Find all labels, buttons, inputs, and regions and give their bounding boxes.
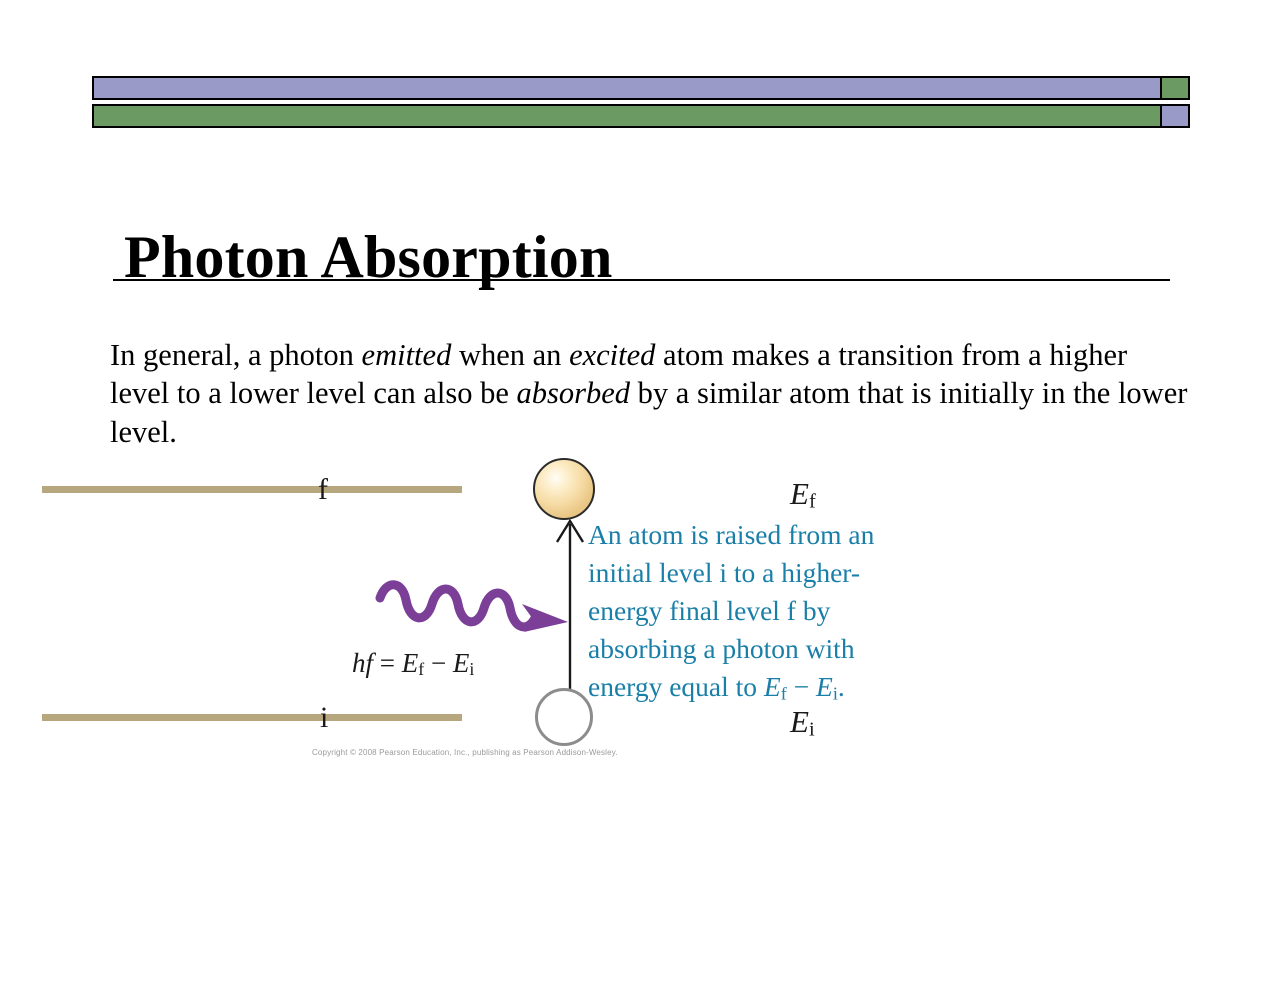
- header-bar-top: [92, 76, 1190, 100]
- atom-ground-state: [535, 688, 593, 746]
- body-text-seg-2: when an: [451, 338, 569, 372]
- body-text-seg-5: absorbed: [517, 376, 631, 410]
- formula-minus: −: [431, 648, 446, 678]
- annotation-ef: E: [764, 671, 781, 702]
- formula-ei: E: [453, 648, 470, 678]
- annotation-line-5-prefix: energy equal to: [588, 671, 764, 702]
- annotation-line-5: energy equal to Ef − Ei.: [588, 668, 938, 712]
- energy-level-line-initial: [42, 714, 462, 721]
- annotation-period: .: [838, 671, 845, 702]
- energy-symbol-final: E: [790, 476, 809, 511]
- annotation-minus: −: [787, 671, 816, 702]
- energy-level-line-final: [42, 486, 462, 493]
- formula-hf: hf: [352, 648, 373, 678]
- header-bar-top-short: [1160, 76, 1190, 100]
- figure-annotation: An atom is raised from an initial level …: [588, 516, 938, 712]
- annotation-line-4: absorbing a photon with: [588, 630, 938, 668]
- header-bar-top-long: [92, 76, 1162, 100]
- body-text-seg-3: excited: [569, 338, 655, 372]
- header-decoration: [92, 76, 1190, 128]
- body-text-seg-0: In general, a photon: [110, 338, 362, 372]
- annotation-line-3: energy final level f by: [588, 592, 938, 630]
- photon-energy-formula: hf = Ef − Ei: [352, 650, 474, 679]
- figure-copyright: Copyright © 2008 Pearson Education, Inc.…: [312, 748, 618, 757]
- formula-ef-sub: f: [418, 659, 424, 679]
- annotation-ei: E: [816, 671, 833, 702]
- header-bar-bottom-short: [1160, 104, 1190, 128]
- energy-level-letter-final: f: [318, 475, 328, 505]
- photon-wave-icon: [372, 578, 582, 640]
- formula-equals: =: [380, 648, 395, 678]
- formula-ef: E: [402, 648, 419, 678]
- body-paragraph: In general, a photon emitted when an exc…: [110, 336, 1190, 452]
- energy-level-letter-initial: i: [320, 703, 328, 733]
- atom-excited-state: [533, 458, 595, 520]
- energy-subscript-initial: i: [809, 719, 815, 741]
- annotation-line-1: An atom is raised from an: [588, 516, 938, 554]
- annotation-line-2: initial level i to a higher-: [588, 554, 938, 592]
- title-divider: [113, 279, 1170, 281]
- energy-level-label-final: Ef: [790, 478, 816, 512]
- energy-subscript-final: f: [809, 491, 816, 513]
- body-text-seg-1: emitted: [362, 338, 452, 372]
- header-bar-bottom-long: [92, 104, 1162, 128]
- formula-ei-sub: i: [469, 659, 474, 679]
- header-bar-bottom: [92, 104, 1190, 128]
